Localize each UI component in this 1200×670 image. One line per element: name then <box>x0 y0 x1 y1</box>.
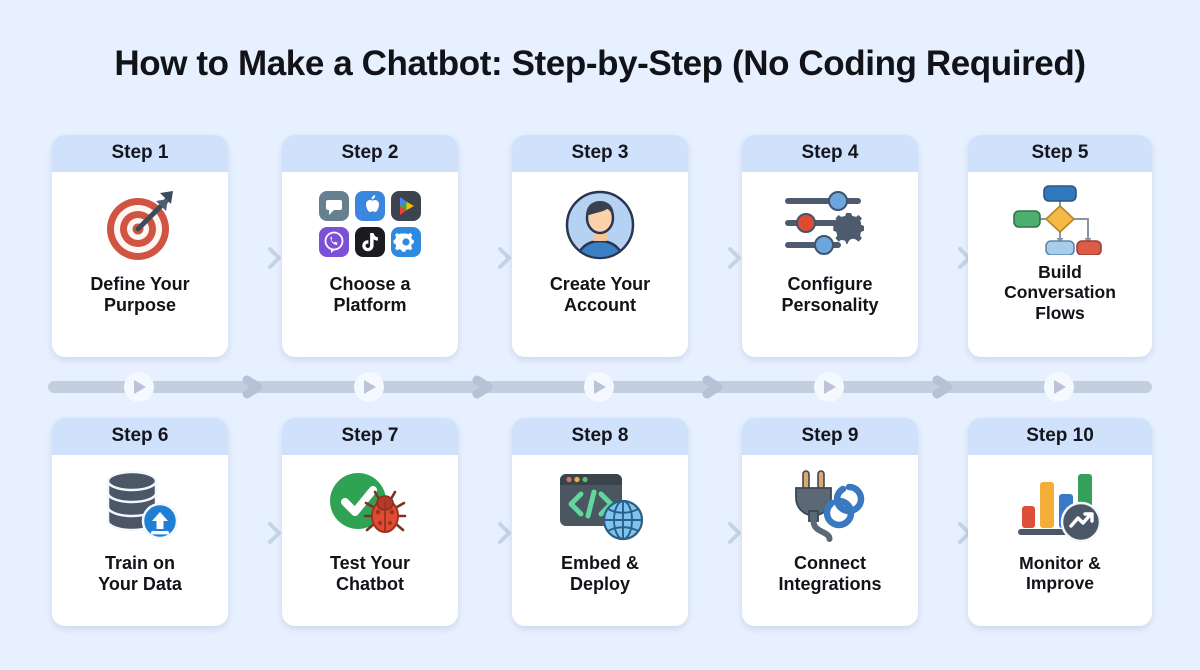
step-body-5: Build Conversation Flows <box>968 172 1152 357</box>
step-column-1: Step 1 Define <box>25 135 255 360</box>
timeline-marker <box>814 372 844 402</box>
target-dartboard-arrow-icon <box>98 183 182 267</box>
step-column-5: Step 5 <box>945 135 1175 360</box>
checkmark-bug-icon <box>325 467 415 545</box>
step-label-5: Build Conversation Flows <box>1004 262 1116 323</box>
tiktok-app-icon <box>355 227 385 257</box>
step-card-2[interactable]: Step 2 <box>282 135 458 357</box>
database-upload-icon <box>98 467 182 545</box>
step-label-10: Monitor & Improve <box>1019 553 1101 594</box>
step-body-7: Test Your Chatbot <box>282 455 458 626</box>
step-card-7[interactable]: Step 7 <box>282 418 458 626</box>
step-column-7: Step 7 <box>255 418 485 630</box>
step-number-3: Step 3 <box>512 135 688 172</box>
step-number-4: Step 4 <box>742 135 918 172</box>
step-card-10[interactable]: Step 10 Monit <box>968 418 1152 626</box>
app-platform-tiles-icon <box>319 189 421 261</box>
step-card-4[interactable]: Step 4 <box>742 135 918 357</box>
step-label-9: Connect Integrations <box>778 553 881 595</box>
step-card-6[interactable]: Step 6 <box>52 418 228 626</box>
icon-slot <box>518 182 682 268</box>
chain-link-icon <box>827 487 861 525</box>
step-card-8[interactable]: Step 8 <box>512 418 688 626</box>
step-column-2: Step 2 <box>255 135 485 360</box>
step-label-8: Embed & Deploy <box>561 553 639 595</box>
icon-slot <box>974 182 1146 256</box>
step-card-1[interactable]: Step 1 Define <box>52 135 228 357</box>
plug-link-icon <box>787 467 873 545</box>
infographic-page: How to Make a Chatbot: Step-by-Step (No … <box>0 0 1200 670</box>
globe-icon <box>604 501 642 539</box>
bar-chart-trending-icon <box>1012 468 1108 544</box>
step-number-5: Step 5 <box>968 135 1152 172</box>
icon-slot <box>748 182 912 268</box>
step-number-6: Step 6 <box>52 418 228 455</box>
sliders-settings-icon <box>780 187 880 263</box>
step-number-10: Step 10 <box>968 418 1152 455</box>
step-number-8: Step 8 <box>512 418 688 455</box>
icon-slot <box>288 182 452 268</box>
chat-bubble-app-icon <box>319 191 349 221</box>
timeline-marker <box>124 372 154 402</box>
step-label-7: Test Your Chatbot <box>330 553 410 595</box>
step-body-1: Define Your Purpose <box>52 172 228 357</box>
step-card-9[interactable]: Step 9 <box>742 418 918 626</box>
step-body-9: Connect Integrations <box>742 455 918 626</box>
step-column-3: Step 3 <box>485 135 715 360</box>
icon-slot <box>58 182 222 268</box>
step-body-6: Train on Your Data <box>52 455 228 626</box>
step-card-5[interactable]: Step 5 <box>968 135 1152 357</box>
icon-slot <box>518 465 682 547</box>
steps-row-top: Step 1 Define <box>0 135 1200 360</box>
timeline-marker <box>584 372 614 402</box>
step-number-9: Step 9 <box>742 418 918 455</box>
step-card-3[interactable]: Step 3 <box>512 135 688 357</box>
step-column-6: Step 6 <box>25 418 255 630</box>
icon-slot <box>974 465 1146 547</box>
step-number-7: Step 7 <box>282 418 458 455</box>
step-column-10: Step 10 Monit <box>945 418 1175 630</box>
timeline-marker <box>354 372 384 402</box>
user-avatar-icon <box>560 185 640 265</box>
icon-slot <box>748 465 912 547</box>
step-body-2: Choose a Platform <box>282 172 458 357</box>
step-label-2: Choose a Platform <box>329 274 410 316</box>
icon-slot <box>58 465 222 547</box>
icon-slot <box>288 465 452 547</box>
step-body-3: Create Your Account <box>512 172 688 357</box>
step-label-3: Create Your Account <box>550 274 650 316</box>
flowchart-diagram-icon <box>1004 183 1116 255</box>
step-label-4: Configure Personality <box>781 274 878 316</box>
step-column-8: Step 8 <box>485 418 715 630</box>
step-number-1: Step 1 <box>52 135 228 172</box>
step-column-4: Step 4 <box>715 135 945 360</box>
gear-settings-app-icon <box>391 227 421 257</box>
steps-row-bottom: Step 6 <box>0 418 1200 630</box>
page-title: How to Make a Chatbot: Step-by-Step (No … <box>0 44 1200 84</box>
viber-app-icon <box>319 227 349 257</box>
step-column-9: Step 9 <box>715 418 945 630</box>
timeline-marker <box>1044 372 1074 402</box>
apple-app-icon <box>355 191 385 221</box>
step-label-1: Define Your Purpose <box>90 274 189 316</box>
step-number-2: Step 2 <box>282 135 458 172</box>
step-body-8: Embed & Deploy <box>512 455 688 626</box>
step-body-10: Monitor & Improve <box>968 455 1152 626</box>
step-label-6: Train on Your Data <box>98 553 182 595</box>
google-play-app-icon <box>391 191 421 221</box>
progress-timeline <box>0 370 1200 404</box>
code-window-globe-icon <box>554 468 646 544</box>
step-body-4: Configure Personality <box>742 172 918 357</box>
